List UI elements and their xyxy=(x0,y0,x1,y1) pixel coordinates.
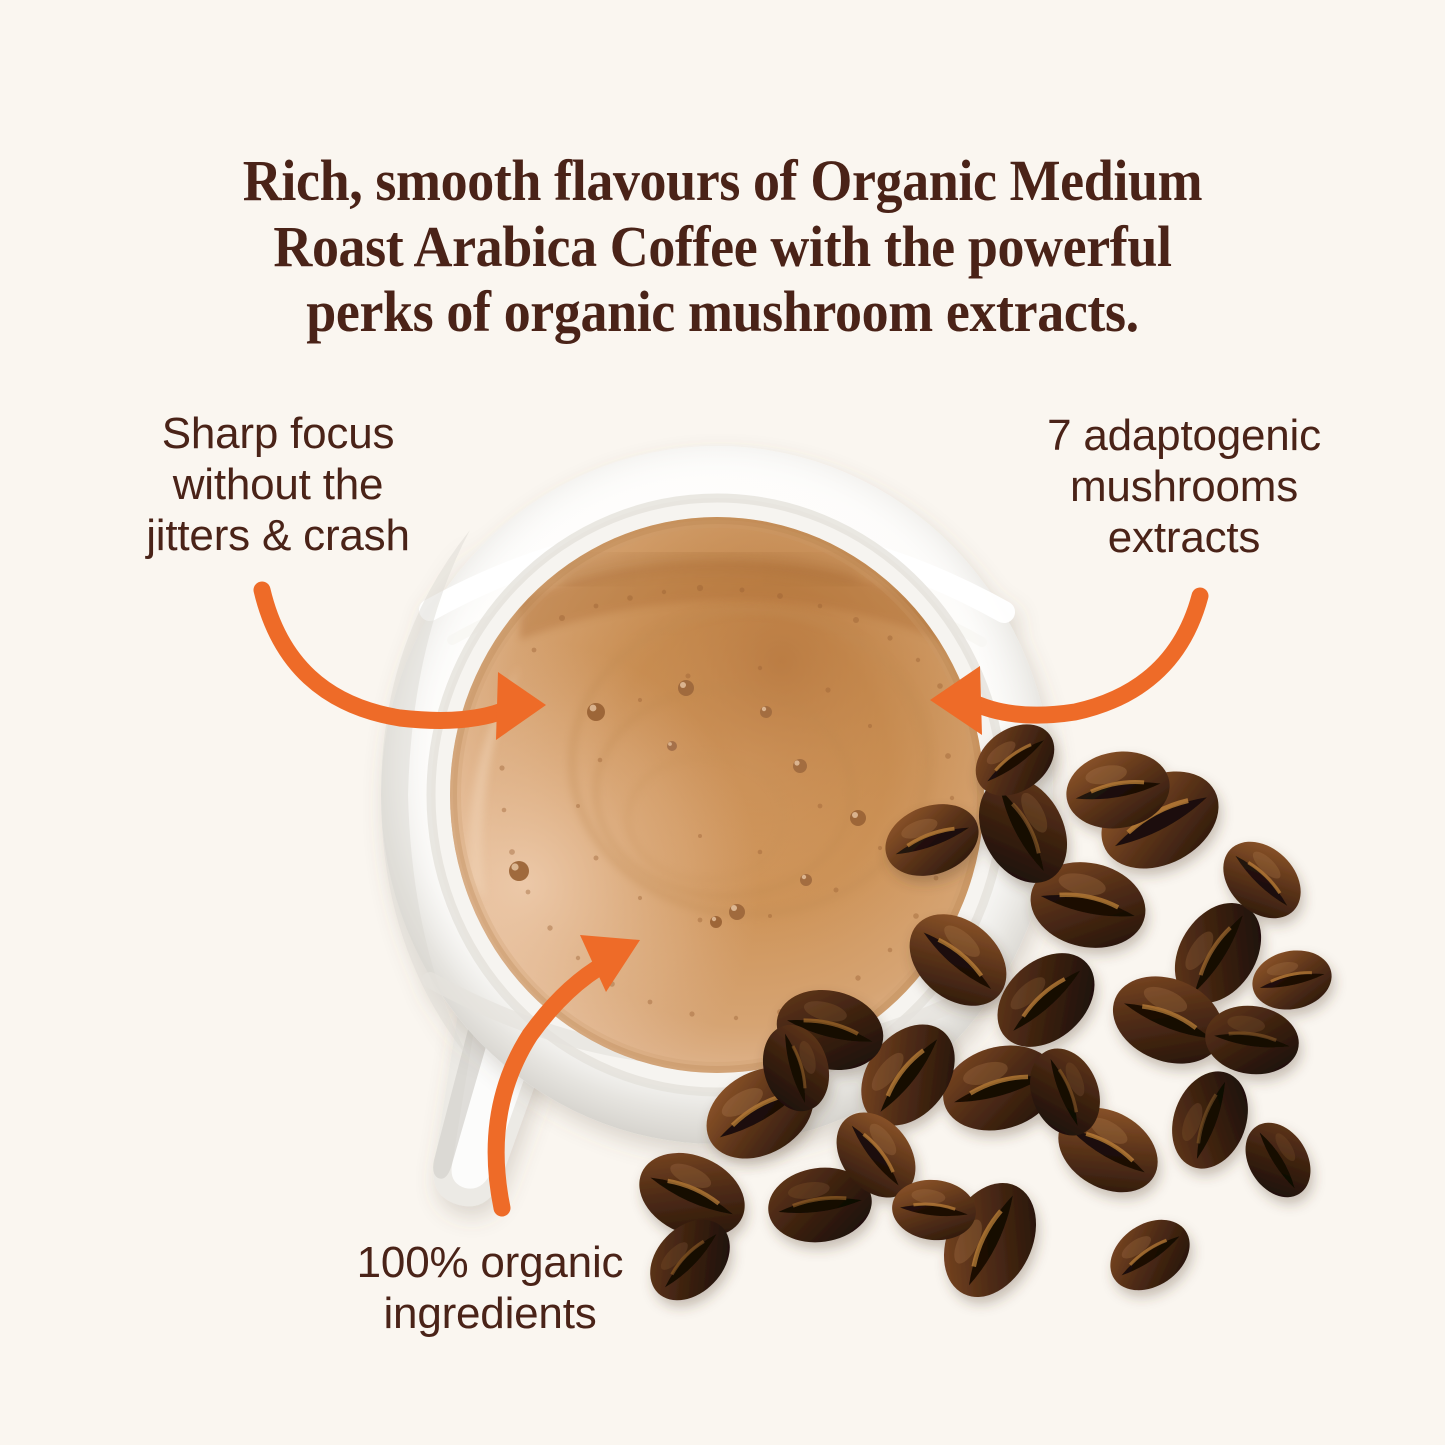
espresso-crema xyxy=(450,517,984,1073)
infographic-canvas: Rich, smooth flavours of Organic Medium … xyxy=(0,0,1445,1445)
callout-adaptogenic-mushrooms: 7 adaptogenic mushrooms extracts xyxy=(1000,410,1368,563)
callout-organic-ingredients: 100% organic ingredients xyxy=(300,1237,680,1339)
callout-sharp-focus: Sharp focus without the jitters & crash xyxy=(98,408,458,561)
page-title: Rich, smooth flavours of Organic Medium … xyxy=(51,148,1395,345)
